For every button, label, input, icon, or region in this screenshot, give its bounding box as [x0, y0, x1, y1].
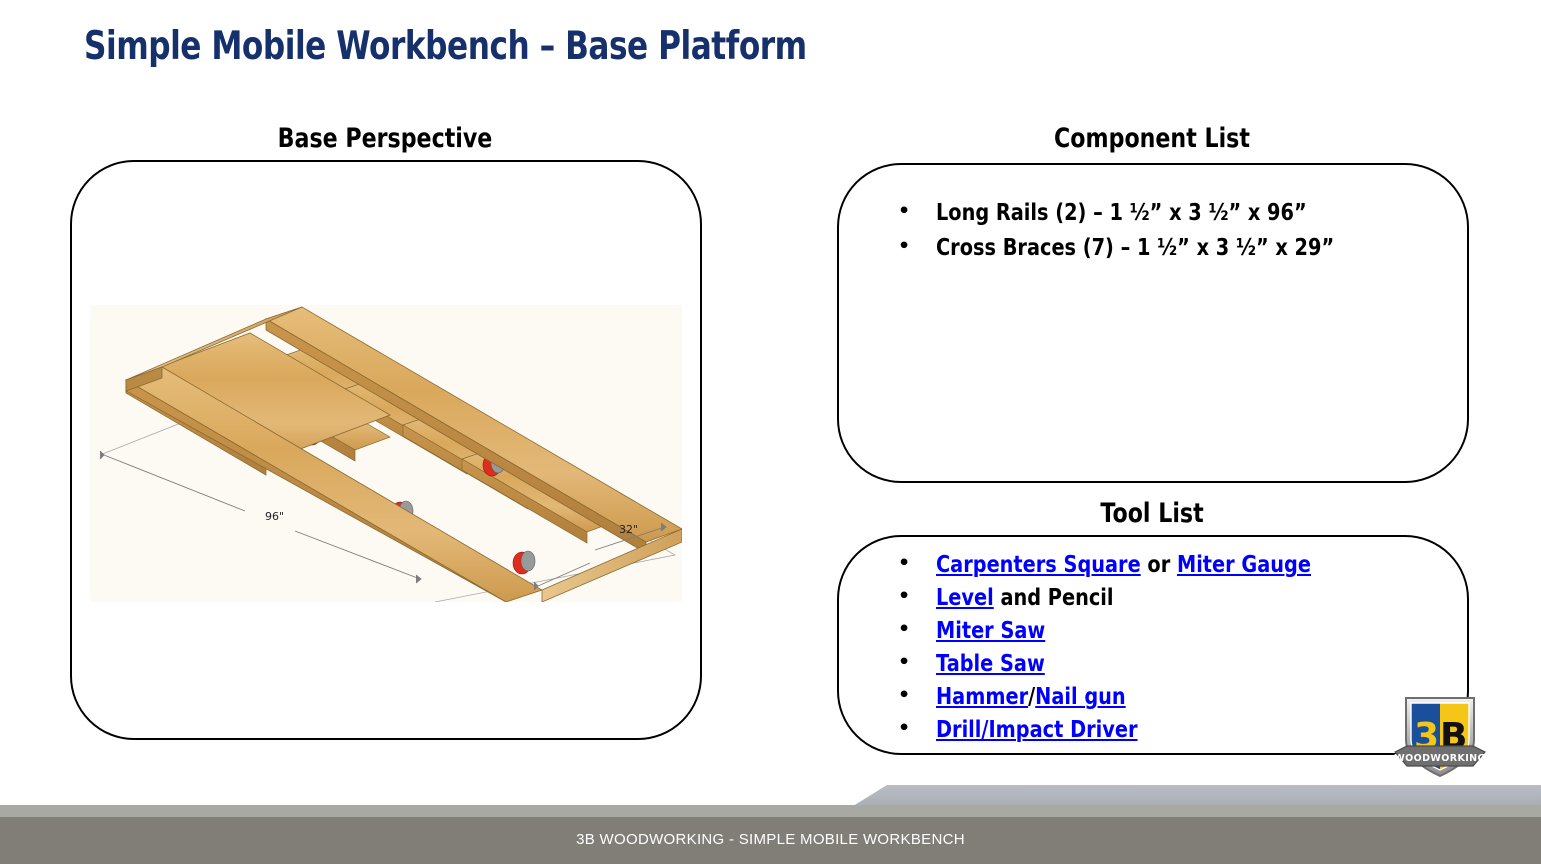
tool-list-item-label: Hammer/Nail gun — [936, 684, 1126, 710]
tool-link[interactable]: Hammer — [936, 684, 1028, 710]
section-heading-component-list: Component List — [943, 123, 1361, 154]
tool-list-item: Miter Saw — [874, 618, 1382, 644]
tool-link[interactable]: Miter Gauge — [1177, 552, 1311, 578]
tool-list-item: Level and Pencil — [874, 585, 1382, 611]
tool-list: Carpenters Square or Miter GaugeLevel an… — [874, 552, 1382, 750]
tool-list-item: Carpenters Square or Miter Gauge — [874, 552, 1382, 578]
footer-text: 3B WOODWORKING - SIMPLE MOBILE WORKBENCH — [0, 831, 1541, 848]
tool-list-item-label: Table Saw — [936, 651, 1045, 677]
tool-list-item-label: Level and Pencil — [936, 585, 1114, 611]
brand-logo-3b-woodworking: 3 B WOODWORKING — [1393, 690, 1487, 782]
tool-list-item-label: Drill/Impact Driver — [936, 717, 1138, 743]
tool-link[interactable]: Drill/Impact Driver — [936, 717, 1138, 743]
tool-list-item: Table Saw — [874, 651, 1382, 677]
tool-link[interactable]: Level — [936, 585, 994, 611]
tool-link[interactable]: Table Saw — [936, 651, 1045, 677]
tool-list-item: Drill/Impact Driver — [874, 717, 1382, 743]
tool-text: or — [1141, 552, 1177, 578]
component-list-item-label: Long Rails (2) – 1 ½” x 3 ½” x 96” — [936, 200, 1307, 226]
tool-list-item-label: Miter Saw — [936, 618, 1045, 644]
component-list: Long Rails (2) – 1 ½” x 3 ½” x 96”Cross … — [874, 200, 1410, 270]
tool-list-item-label: Carpenters Square or Miter Gauge — [936, 552, 1311, 578]
component-list-item: Long Rails (2) – 1 ½” x 3 ½” x 96” — [874, 200, 1410, 226]
dimension-label-length: 96" — [265, 510, 284, 523]
tool-link[interactable]: Nail gun — [1035, 684, 1126, 710]
logo-banner-text: WOODWORKING — [1394, 753, 1485, 764]
component-list-item-label: Cross Braces (7) – 1 ½” x 3 ½” x 29” — [936, 235, 1334, 261]
tool-list-item: Hammer/Nail gun — [874, 684, 1382, 710]
tool-link[interactable]: Miter Saw — [936, 618, 1045, 644]
tool-text: and Pencil — [994, 585, 1114, 611]
workbench-perspective-figure: 96" 32" — [90, 305, 682, 602]
page-title: Simple Mobile Workbench – Base Platform — [84, 24, 807, 69]
footer-light-strip — [0, 805, 1541, 817]
component-list-item: Cross Braces (7) – 1 ½” x 3 ½” x 29” — [874, 235, 1410, 261]
tool-link[interactable]: Carpenters Square — [936, 552, 1141, 578]
section-heading-base-perspective: Base Perspective — [176, 123, 594, 154]
section-heading-tool-list: Tool List — [943, 498, 1361, 529]
tool-text: / — [1028, 684, 1035, 710]
dimension-label-width: 32" — [619, 523, 638, 536]
